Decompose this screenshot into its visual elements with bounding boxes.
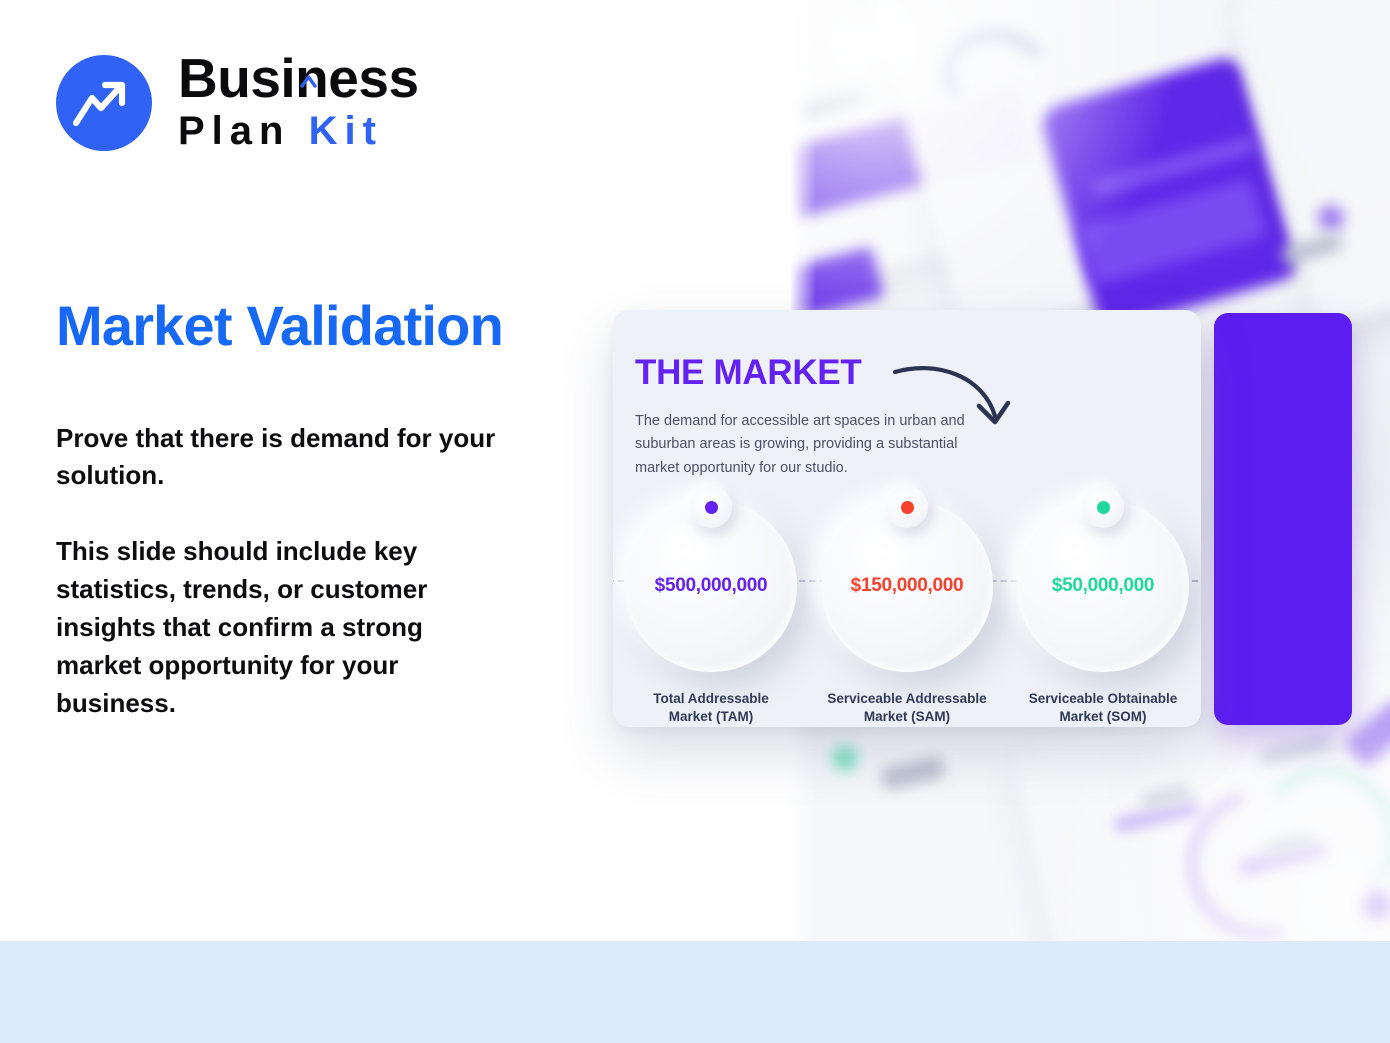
brand-line-plan-kit: Plan Kit [178, 109, 419, 154]
brand-plan-text: Plan [178, 109, 290, 153]
metric-label-tam: Total Addressable Market (TAM) [621, 690, 801, 727]
metric-label-som: Serviceable Obtainable Market (SOM) [1013, 690, 1193, 727]
brand-wordmark: Business Plan Kit [178, 52, 419, 154]
metric-dial-som: $50,000,000 [1017, 500, 1189, 672]
metric-label-line2: Market (TAM) [669, 709, 754, 724]
metric-label-line2: Market (SAM) [864, 709, 950, 724]
card-title: THE MARKET [635, 353, 861, 393]
indicator-dot-icon [1097, 501, 1110, 514]
indicator-dot-icon [901, 501, 914, 514]
lead-paragraph: Prove that there is demand for your solu… [56, 420, 576, 494]
metric-value-tam: $500,000,000 [655, 575, 768, 597]
brand-business-text: Business [178, 47, 419, 109]
caret-accent-icon [300, 45, 317, 62]
metric-tam: $500,000,000 Total Addressable Market (T… [622, 500, 800, 727]
metric-sam: $150,000,000 Serviceable Addressable Mar… [818, 500, 996, 727]
blurred-dot [1362, 890, 1390, 920]
page-title: Market Validation [56, 296, 503, 356]
indicator-dot-icon [705, 501, 718, 514]
body-paragraph: This slide should include key statistics… [56, 533, 508, 723]
brand-line-business: Business [178, 52, 419, 105]
metric-label-line1: Serviceable Obtainable [1029, 691, 1178, 706]
brand-logo: Business Plan Kit [56, 52, 419, 154]
growth-arrow-icon [56, 55, 152, 151]
metric-value-som: $50,000,000 [1052, 575, 1154, 597]
metric-label-line2: Market (SOM) [1059, 709, 1146, 724]
metric-dial-nub [690, 486, 732, 528]
metric-dial-nub [1082, 486, 1124, 528]
market-metrics-group: $500,000,000 Total Addressable Market (T… [613, 500, 1201, 727]
metric-label-line1: Total Addressable [653, 691, 769, 706]
metric-dial-nub [886, 486, 928, 528]
brand-kit-text: Kit [309, 109, 383, 153]
blurred-dot [1318, 205, 1344, 231]
metric-value-sam: $150,000,000 [851, 575, 964, 597]
metric-dial-sam: $150,000,000 [821, 500, 993, 672]
metric-label-sam: Serviceable Addressable Market (SAM) [817, 690, 997, 727]
purple-accent-slab [1214, 313, 1352, 725]
metric-dial-tam: $500,000,000 [625, 500, 797, 672]
slide-canvas: Business Plan Kit Market Validation Prov… [0, 0, 1390, 1043]
metric-label-line1: Serviceable Addressable [827, 691, 986, 706]
the-market-card: THE MARKET $500,000,000 Total Addressabl… [613, 310, 1201, 727]
card-description: The demand for accessible art spaces in … [635, 410, 990, 480]
blurred-dot [832, 745, 858, 771]
metric-som: $50,000,000 Serviceable Obtainable Marke… [1014, 500, 1192, 727]
bottom-accent-strip [0, 941, 1390, 1043]
